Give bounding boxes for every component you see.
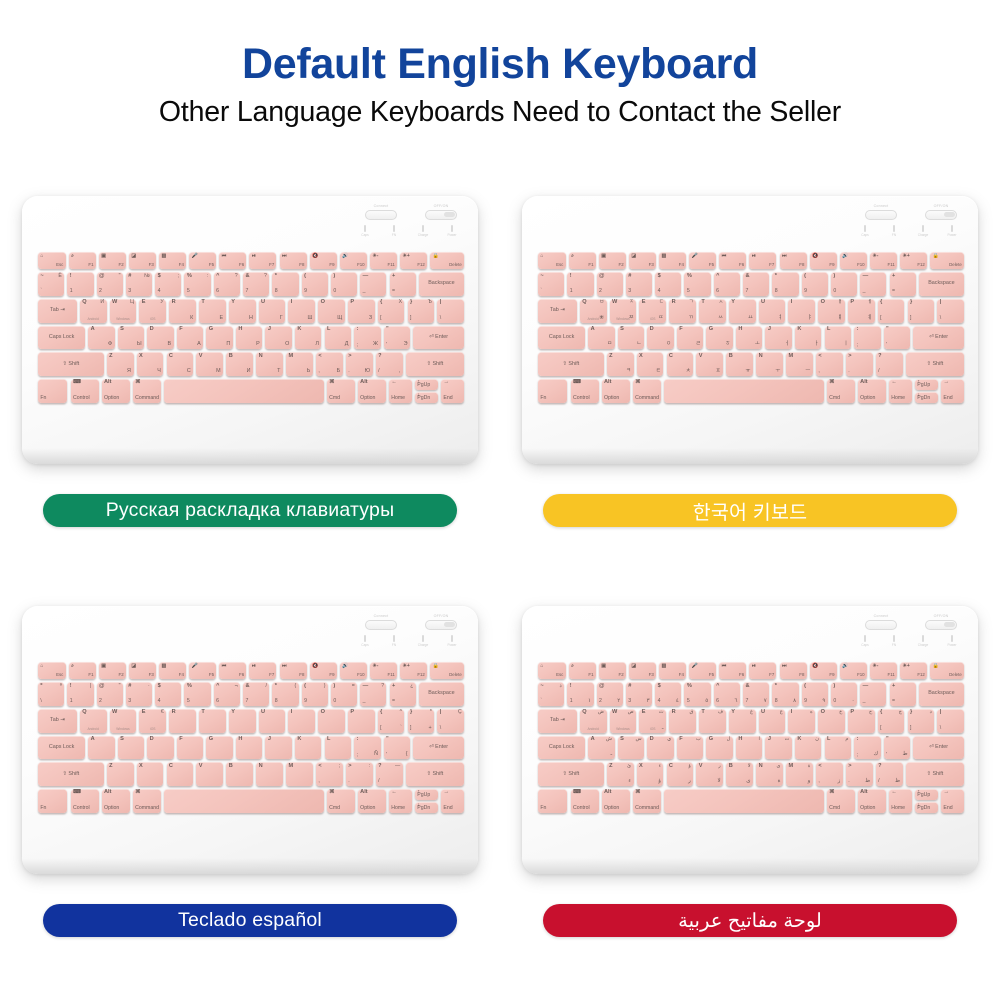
key-shift[interactable]: ⇧ Shift	[906, 762, 964, 786]
key-[interactable]: 🎤F5	[189, 662, 216, 679]
key-[interactable]: ⌘Command	[633, 379, 661, 403]
key-k[interactable]: Kㅏ	[795, 326, 821, 350]
key-enter[interactable]: ⏎ Enter	[413, 736, 464, 760]
key-[interactable]: #·3	[126, 682, 152, 706]
key-[interactable]: @2٢	[597, 682, 623, 706]
key-u[interactable]: Uㅕ	[759, 299, 786, 323]
key-m[interactable]: M	[286, 762, 313, 786]
key-[interactable]: >:.	[346, 762, 373, 786]
key-[interactable]: 🎤F5	[189, 252, 216, 269]
switch-connect[interactable]: Connect	[856, 615, 906, 630]
key-[interactable]: ()9	[302, 682, 328, 706]
key-s[interactable]: SЫ	[118, 326, 144, 350]
key-[interactable]: ⏭F8	[280, 252, 307, 269]
key-[interactable]: ⌕F1	[69, 662, 96, 679]
key-[interactable]: ↓PgDn	[915, 392, 938, 403]
key-v[interactable]: V	[196, 762, 223, 786]
key-[interactable]: "'Э	[384, 326, 410, 350]
key-o[interactable]: OЩ	[318, 299, 345, 323]
key-u[interactable]: UГ	[259, 299, 286, 323]
key-z[interactable]: Zㅋ	[607, 352, 634, 376]
key-q[interactable]: QㅂㅃAndroid	[580, 299, 607, 323]
key-caps-lock[interactable]: Caps Lock	[538, 736, 585, 760]
key-t[interactable]: Tㅅㅆ	[699, 299, 726, 323]
key-shift[interactable]: ⇧ Shift	[906, 352, 964, 376]
key-[interactable]: ◪F3	[629, 662, 656, 679]
key-fn[interactable]: Fn	[38, 379, 67, 403]
switch-track[interactable]	[865, 620, 897, 630]
key-shift[interactable]: ⇧ Shift	[538, 352, 604, 376]
key-o[interactable]: Oㅐㅒ	[818, 299, 845, 323]
key-[interactable]: 🔇F9	[810, 662, 837, 679]
key-[interactable]: ~`	[538, 272, 564, 296]
key-[interactable]: }Ъ]	[408, 299, 435, 323]
key-[interactable]: !1	[567, 272, 593, 296]
switch-track[interactable]	[925, 620, 957, 630]
key-c[interactable]: CС	[167, 352, 194, 376]
key-l[interactable]: Lㅣ	[825, 326, 851, 350]
key-[interactable]: #№3	[126, 272, 152, 296]
key-[interactable]: ☀+F12	[400, 252, 427, 269]
switch-track[interactable]	[425, 210, 457, 220]
key-[interactable]: 🔒Delete	[430, 252, 464, 269]
key-[interactable]: {ج[	[878, 709, 905, 733]
key-[interactable]: 🔒Delete	[930, 662, 964, 679]
key-e[interactable]: EثـiOS	[639, 709, 666, 733]
key-tab[interactable]: Tab ⇥	[538, 299, 577, 323]
key-v[interactable]: Vرلا	[696, 762, 723, 786]
key-v[interactable]: Vㅍ	[696, 352, 723, 376]
key-[interactable]: →End	[941, 789, 964, 813]
key-[interactable]: ▣F2	[599, 252, 626, 269]
key-x[interactable]: XЧ	[137, 352, 164, 376]
key-k[interactable]: KЛ	[295, 326, 321, 350]
key-[interactable]: ⌕F1	[569, 662, 596, 679]
key-n[interactable]: N	[256, 762, 283, 786]
key-[interactable]: @"2	[97, 682, 123, 706]
key-t[interactable]: T	[199, 709, 226, 733]
key-[interactable]: <,ز	[816, 762, 843, 786]
key-enter[interactable]: ⏎ Enter	[913, 326, 964, 350]
key-[interactable]: ↑PgUp	[915, 379, 938, 390]
key-d[interactable]: D	[147, 736, 173, 760]
key-c[interactable]: Cؤر	[667, 762, 694, 786]
key-[interactable]: ☀+F12	[900, 662, 927, 679]
key-fn[interactable]: Fn	[538, 379, 567, 403]
key-[interactable]: —?_	[360, 682, 386, 706]
key-[interactable]: ▣F2	[599, 662, 626, 679]
key-[interactable]: —_	[360, 272, 386, 296]
key-[interactable]: (9٩	[802, 682, 828, 706]
key-p[interactable]: Pㅔㅖ	[848, 299, 875, 323]
switch-connect[interactable]: Connect	[356, 615, 406, 630]
key-p[interactable]: PЗ	[348, 299, 375, 323]
key-n[interactable]: Nىة	[756, 762, 783, 786]
key-[interactable]: ⌘Cmd	[327, 379, 355, 403]
key-[interactable]: +=	[890, 682, 916, 706]
key-[interactable]: %5	[684, 272, 710, 296]
key-[interactable]: ▨F4	[659, 662, 686, 679]
key-enter[interactable]: ⏎ Enter	[913, 736, 964, 760]
key-[interactable]: }د]	[908, 709, 935, 733]
key-r[interactable]: R	[169, 709, 196, 733]
key-[interactable]: ⏭F8	[780, 252, 807, 269]
key-[interactable]: ⏮F6	[219, 662, 246, 679]
key-[interactable]: ⌨Control	[71, 379, 99, 403]
key-caps-lock[interactable]: Caps Lock	[38, 736, 85, 760]
key-[interactable]: &7٧	[743, 682, 769, 706]
key-y[interactable]: Yㅛ	[729, 299, 756, 323]
key-[interactable]: ▣F2	[99, 252, 126, 269]
key-k[interactable]: Kن	[795, 736, 821, 760]
key-h[interactable]: H	[236, 736, 262, 760]
key-[interactable]: ~Ё`	[38, 272, 64, 296]
key-key[interactable]	[164, 379, 324, 403]
key-[interactable]: ☀+F12	[900, 252, 927, 269]
key-[interactable]: 🔒Delete	[930, 252, 964, 269]
key-[interactable]: ⏭F8	[780, 662, 807, 679]
key-tab[interactable]: Tab ⇥	[538, 709, 577, 733]
key-[interactable]: |\	[937, 709, 964, 733]
switch-track[interactable]	[925, 210, 957, 220]
key-n[interactable]: NТ	[256, 352, 283, 376]
key-f[interactable]: F	[177, 736, 203, 760]
key-[interactable]: @"2	[97, 272, 123, 296]
key-[interactable]: {Х[	[378, 299, 405, 323]
key-[interactable]: "'ط	[884, 736, 910, 760]
key-[interactable]: →End	[941, 379, 964, 403]
key-[interactable]: }*]+	[408, 709, 435, 733]
key-q[interactable]: QAndroid	[80, 709, 107, 733]
key-shift[interactable]: ⇧ Shift	[38, 352, 104, 376]
key-p[interactable]: Pح	[848, 709, 875, 733]
key-alt[interactable]: AltOption	[102, 379, 130, 403]
key-y[interactable]: YН	[229, 299, 256, 323]
key-b[interactable]: Bㅠ	[726, 352, 753, 376]
key-[interactable]: ⏯F7	[749, 252, 776, 269]
key-p[interactable]: P	[348, 709, 375, 733]
key-[interactable]: ▣F2	[99, 662, 126, 679]
key-fn[interactable]: Fn	[38, 789, 67, 813]
key-[interactable]: +=	[390, 272, 416, 296]
key-l[interactable]: LД	[325, 326, 351, 350]
key-[interactable]: >.ظ	[846, 762, 873, 786]
key-b[interactable]: B	[226, 762, 253, 786]
key-[interactable]: 🔊F10	[840, 662, 867, 679]
key-alt[interactable]: AltOption	[602, 379, 630, 403]
key-j[interactable]: J	[265, 736, 291, 760]
key-b[interactable]: BИ	[226, 352, 253, 376]
key-[interactable]: ^?6	[214, 272, 240, 296]
key-w[interactable]: WWindows	[110, 709, 137, 733]
key-i[interactable]: Iㅑ	[788, 299, 815, 323]
key-s[interactable]: Sㄴ	[618, 326, 644, 350]
key-[interactable]: ⌘Cmd	[827, 789, 855, 813]
key-[interactable]: 🔇F9	[810, 252, 837, 269]
key-[interactable]: ~ذ`	[538, 682, 564, 706]
switch-track[interactable]	[365, 620, 397, 630]
key-[interactable]: >.	[846, 352, 873, 376]
key-a[interactable]: A	[88, 736, 114, 760]
key-f[interactable]: Fㄹ	[677, 326, 703, 350]
key-e[interactable]: EㄷㄸiOS	[639, 299, 666, 323]
key-d[interactable]: Dي	[647, 736, 673, 760]
key-[interactable]: ⌘Command	[633, 789, 661, 813]
key-[interactable]: %5	[184, 682, 210, 706]
key-t[interactable]: TЕ	[199, 299, 226, 323]
key-[interactable]: ⏭F8	[280, 662, 307, 679]
key-[interactable]: #3٣	[626, 682, 652, 706]
key-q[interactable]: QЙAndroid	[80, 299, 107, 323]
key-backspace[interactable]: Backspace	[919, 682, 964, 706]
key-l[interactable]: Lم	[825, 736, 851, 760]
switch-track[interactable]	[365, 210, 397, 220]
switch-connect[interactable]: Connect	[856, 205, 906, 220]
key-[interactable]: ⌕F1	[569, 252, 596, 269]
key-[interactable]: ☀-F11	[870, 252, 897, 269]
key-[interactable]: ←Home	[389, 789, 412, 813]
key-[interactable]: ↓PgDn	[915, 802, 938, 813]
key-[interactable]: >.Ю	[346, 352, 373, 376]
key-[interactable]: {[	[878, 299, 905, 323]
key-[interactable]: ⏮F6	[719, 662, 746, 679]
key-[interactable]: "'{	[384, 736, 410, 760]
key-u[interactable]: U	[259, 709, 286, 733]
key-[interactable]: *8	[772, 272, 798, 296]
key-[interactable]: ?/	[876, 352, 903, 376]
key-[interactable]: —_	[860, 272, 886, 296]
key-[interactable]: ⌂Esc	[38, 662, 66, 679]
key-v[interactable]: VМ	[196, 352, 223, 376]
key-[interactable]: ←Home	[889, 379, 912, 403]
key-[interactable]: ☀-F11	[870, 662, 897, 679]
key-[interactable]: ⏯F7	[249, 252, 276, 269]
key-[interactable]: —_	[860, 682, 886, 706]
key-r[interactable]: RК	[169, 299, 196, 323]
key-[interactable]: ⌂Esc	[538, 662, 566, 679]
key-a[interactable]: AФ	[88, 326, 114, 350]
key-[interactable]: (9	[302, 272, 328, 296]
key-[interactable]: ⌘Command	[133, 789, 161, 813]
key-[interactable]: $4	[655, 272, 681, 296]
key-[interactable]: :;Ñ	[354, 736, 380, 760]
key-z[interactable]: ZЯ	[107, 352, 134, 376]
key-caps-lock[interactable]: Caps Lock	[38, 326, 85, 350]
key-i[interactable]: Iه	[788, 709, 815, 733]
key-[interactable]: ▨F4	[159, 662, 186, 679]
key-[interactable]: *(8	[272, 682, 298, 706]
key-g[interactable]: G	[206, 736, 232, 760]
key-[interactable]: *8٨	[772, 682, 798, 706]
key-[interactable]: 🔊F10	[840, 252, 867, 269]
key-[interactable]: "'	[884, 326, 910, 350]
key-g[interactable]: Gل	[706, 736, 732, 760]
key-w[interactable]: WЦWindows	[110, 299, 137, 323]
key-tab[interactable]: Tab ⇥	[38, 709, 77, 733]
key-b[interactable]: Bلاى	[726, 762, 753, 786]
key-h[interactable]: Hㅗ	[736, 326, 762, 350]
key-[interactable]: 🔇F9	[310, 252, 337, 269]
key-[interactable]: 🔇F9	[310, 662, 337, 679]
key-[interactable]: )0	[831, 272, 857, 296]
key-backspace[interactable]: Backspace	[419, 682, 464, 706]
key-[interactable]: )=0	[331, 682, 357, 706]
key-[interactable]: *8	[272, 272, 298, 296]
key-f[interactable]: Fب	[677, 736, 703, 760]
key-enter[interactable]: ⏎ Enter	[413, 326, 464, 350]
key-[interactable]: ⌘Cmd	[827, 379, 855, 403]
key-t[interactable]: Tف	[699, 709, 726, 733]
key-[interactable]: ⌨Control	[571, 789, 599, 813]
key-i[interactable]: IШ	[288, 299, 315, 323]
key-m[interactable]: Mةو	[786, 762, 813, 786]
key-alt[interactable]: AltOption	[358, 789, 386, 813]
key-[interactable]: :;	[854, 326, 880, 350]
key-caps-lock[interactable]: Caps Lock	[538, 326, 585, 350]
key-m[interactable]: MЬ	[286, 352, 313, 376]
key-[interactable]: )0	[331, 272, 357, 296]
key-z[interactable]: Z	[107, 762, 134, 786]
key-[interactable]: ◪F3	[629, 252, 656, 269]
key-[interactable]: !1	[67, 272, 93, 296]
key-[interactable]: &/7	[243, 682, 269, 706]
key-g[interactable]: Gㅎ	[706, 326, 732, 350]
key-[interactable]: ↓PgDn	[415, 802, 438, 813]
key-f[interactable]: FА	[177, 326, 203, 350]
key-[interactable]: !|1	[67, 682, 93, 706]
key-[interactable]: }]	[908, 299, 935, 323]
key-fn[interactable]: Fn	[538, 789, 567, 813]
switch-track[interactable]	[865, 210, 897, 220]
key-x[interactable]: Xㅌ	[637, 352, 664, 376]
key-alt[interactable]: AltOption	[602, 789, 630, 813]
key-backspace[interactable]: Backspace	[919, 272, 964, 296]
key-[interactable]: |\	[937, 299, 964, 323]
key-[interactable]: $4٤	[655, 682, 681, 706]
key-[interactable]: ?/,	[376, 352, 403, 376]
key-y[interactable]: Yغ	[729, 709, 756, 733]
key-[interactable]: 🔊F10	[340, 252, 367, 269]
key-[interactable]: ^6٦	[714, 682, 740, 706]
key-[interactable]: |\	[437, 299, 464, 323]
key-[interactable]: {^[`	[378, 709, 405, 733]
key-[interactable]: ^6	[714, 272, 740, 296]
key-u[interactable]: Uع	[759, 709, 786, 733]
key-[interactable]: ⌕F1	[69, 252, 96, 269]
key-o[interactable]: Oخ	[818, 709, 845, 733]
key-key[interactable]	[664, 789, 824, 813]
key-[interactable]: ⌘Cmd	[327, 789, 355, 813]
key-[interactable]: ⌂Esc	[38, 252, 66, 269]
key-q[interactable]: QضAndroid	[580, 709, 607, 733]
key-a[interactable]: Aㅁ	[588, 326, 614, 350]
key-[interactable]: ↑PgUp	[415, 789, 438, 800]
key-r[interactable]: Rق	[669, 709, 696, 733]
key-[interactable]: ▨F4	[159, 252, 186, 269]
key-e[interactable]: EУiOS	[139, 299, 166, 323]
key-x[interactable]: X	[137, 762, 164, 786]
key-[interactable]: ↑PgUp	[415, 379, 438, 390]
key-[interactable]: 🔊F10	[340, 662, 367, 679]
key-n[interactable]: Nㅜ	[756, 352, 783, 376]
key-y[interactable]: Y	[229, 709, 256, 733]
key-alt[interactable]: AltOption	[858, 379, 886, 403]
key-m[interactable]: Mㅡ	[786, 352, 813, 376]
key-j[interactable]: Jㅓ	[765, 326, 791, 350]
key-i[interactable]: I	[288, 709, 315, 733]
key-[interactable]: ←Home	[889, 789, 912, 813]
key-[interactable]: $;4	[155, 272, 181, 296]
key-r[interactable]: Rㄱㄲ	[669, 299, 696, 323]
key-[interactable]: ?—/	[376, 762, 403, 786]
key-[interactable]: →End	[441, 379, 464, 403]
key-shift[interactable]: ⇧ Shift	[538, 762, 604, 786]
key-[interactable]: ?/ظ	[876, 762, 903, 786]
key-[interactable]: ⌨Control	[571, 379, 599, 403]
key-[interactable]: ☀+F12	[400, 662, 427, 679]
key-[interactable]: :;ك	[854, 736, 880, 760]
key-[interactable]: 🎤F5	[689, 252, 716, 269]
key-[interactable]: )0٠	[831, 682, 857, 706]
key-h[interactable]: Hا	[736, 736, 762, 760]
key-[interactable]: &7	[743, 272, 769, 296]
key-e[interactable]: E€iOS	[139, 709, 166, 733]
key-[interactable]: ▨F4	[659, 252, 686, 269]
switch-connect[interactable]: Connect	[356, 205, 406, 220]
key-[interactable]: !1١	[567, 682, 593, 706]
key-w[interactable]: WصWindows	[610, 709, 637, 733]
key-z[interactable]: Zئء	[607, 762, 634, 786]
key-shift[interactable]: ⇧ Shift	[406, 352, 464, 376]
key-[interactable]: ↓PgDn	[415, 392, 438, 403]
key-backspace[interactable]: Backspace	[419, 272, 464, 296]
key-[interactable]: @2	[597, 272, 623, 296]
key-[interactable]: ºª\	[38, 682, 64, 706]
key-w[interactable]: WㅈㅉWindows	[610, 299, 637, 323]
key-d[interactable]: DВ	[147, 326, 173, 350]
key-[interactable]: ☀-F11	[370, 252, 397, 269]
key-g[interactable]: GП	[206, 326, 232, 350]
key-o[interactable]: O	[318, 709, 345, 733]
key-[interactable]: <;,	[316, 762, 343, 786]
key-[interactable]: |Ç\	[437, 709, 464, 733]
key-d[interactable]: Dㅇ	[647, 326, 673, 350]
switch-off-on[interactable]: OFF/ON	[416, 615, 466, 630]
key-[interactable]: ⌨Control	[71, 789, 99, 813]
key-[interactable]: (9	[802, 272, 828, 296]
key-[interactable]: :;Ж	[354, 326, 380, 350]
key-[interactable]: &?7	[243, 272, 269, 296]
key-[interactable]: ⏯F7	[749, 662, 776, 679]
key-[interactable]: <,	[816, 352, 843, 376]
key-k[interactable]: K	[295, 736, 321, 760]
key-shift[interactable]: ⇧ Shift	[38, 762, 104, 786]
switch-off-on[interactable]: OFF/ON	[916, 205, 966, 220]
key-[interactable]: ◪F3	[129, 662, 156, 679]
key-[interactable]: ^¬6	[214, 682, 240, 706]
key-[interactable]: 🎤F5	[689, 662, 716, 679]
key-[interactable]: $4	[155, 682, 181, 706]
key-c[interactable]: Cㅊ	[667, 352, 694, 376]
key-key[interactable]	[164, 789, 324, 813]
key-j[interactable]: Jت	[765, 736, 791, 760]
key-x[interactable]: Xءؤ	[637, 762, 664, 786]
key-alt[interactable]: AltOption	[358, 379, 386, 403]
key-[interactable]: ⏯F7	[249, 662, 276, 679]
key-h[interactable]: HР	[236, 326, 262, 350]
key-c[interactable]: C	[167, 762, 194, 786]
key-key[interactable]	[664, 379, 824, 403]
